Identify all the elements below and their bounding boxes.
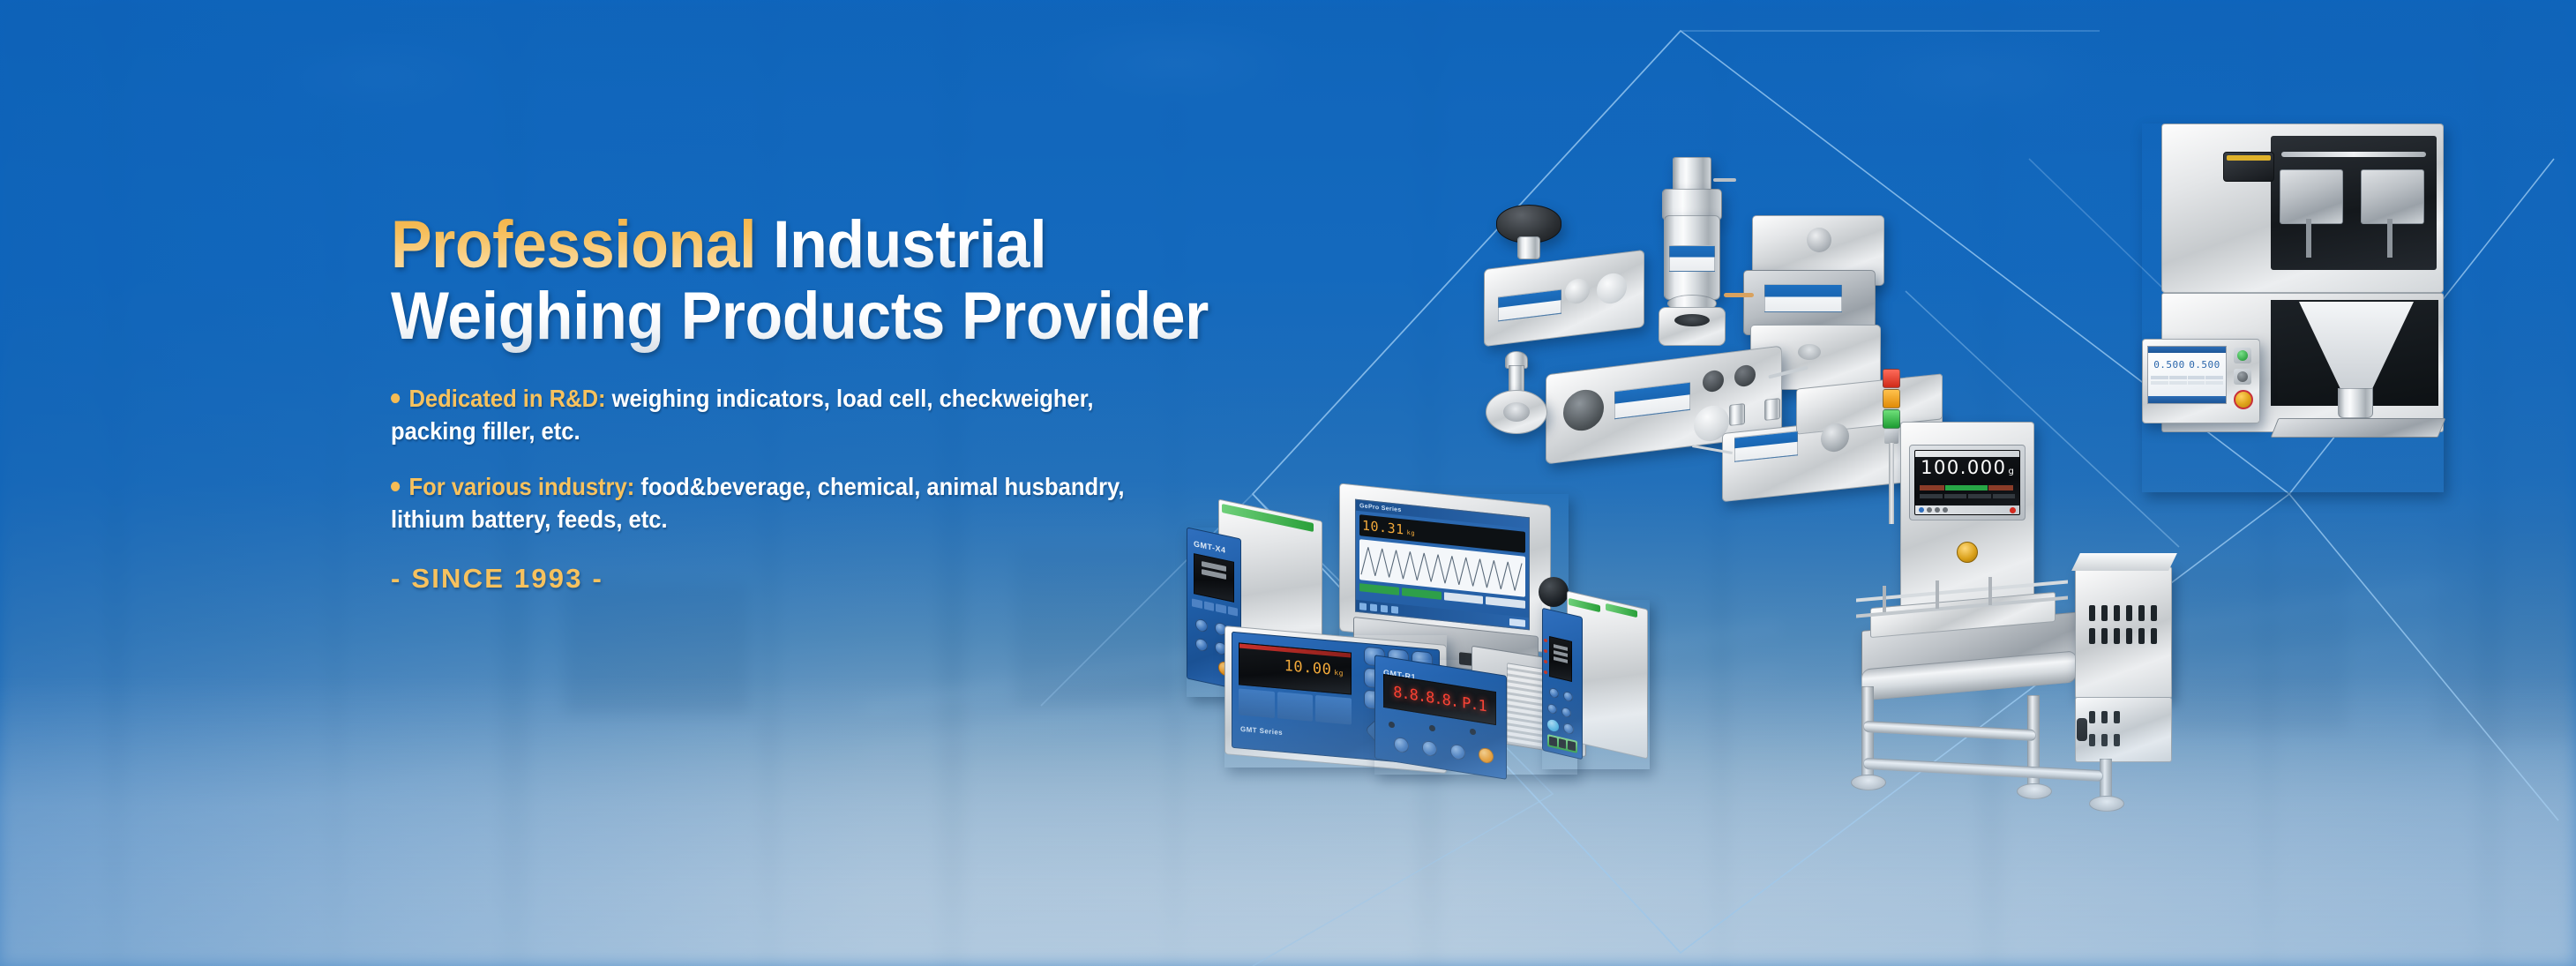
hero-banner: Professional Industrial Weighing Product… xyxy=(0,0,2576,966)
bullet-dot-icon xyxy=(391,393,400,403)
bullet-dot-icon xyxy=(391,482,400,491)
since-tagline: - SINCE 1993 - xyxy=(391,563,1405,595)
bullet-label-rd: Dedicated in R&D: xyxy=(408,385,605,412)
bullet-list: Dedicated in R&D: weighing indicators, l… xyxy=(391,382,1405,536)
bullet-item-industry: For various industry: food&beverage, che… xyxy=(391,470,1335,536)
headline-word-industrial: Industrial xyxy=(773,207,1046,282)
bullet-continuation-rd: packing filler, etc. xyxy=(391,415,1335,447)
hero-copy: Professional Industrial Weighing Product… xyxy=(391,210,1405,595)
headline-line-1: Professional Industrial xyxy=(391,210,1324,281)
bullet-item-rd: Dedicated in R&D: weighing indicators, l… xyxy=(391,382,1335,448)
headline: Professional Industrial Weighing Product… xyxy=(391,210,1324,352)
bullet-label-industry: For various industry: xyxy=(408,473,634,500)
headline-line-2: Weighing Products Provider xyxy=(391,281,1324,353)
bullet-text-rd: weighing indicators, load cell, checkwei… xyxy=(612,385,1094,412)
bullet-text-industry: food&beverage, chemical, animal husbandr… xyxy=(640,473,1124,500)
headline-word-professional: Professional xyxy=(391,207,756,282)
headline-line-2-text: Weighing Products Provider xyxy=(391,279,1209,354)
bullet-continuation-industry: lithium battery, feeds, etc. xyxy=(391,503,1335,535)
